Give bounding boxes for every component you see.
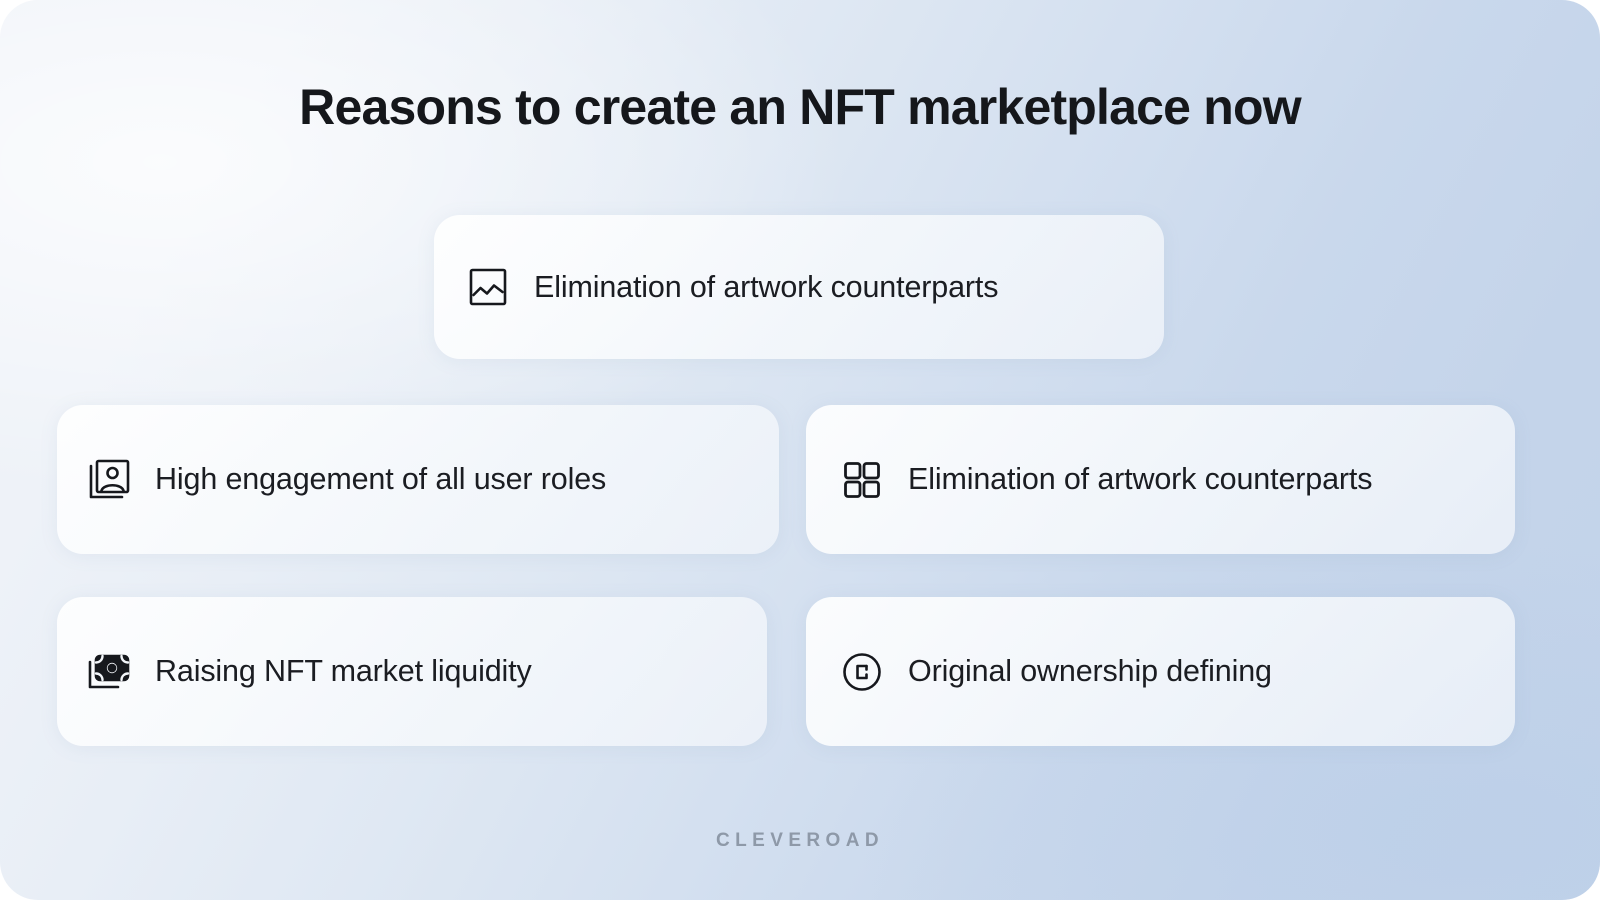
image-chart-icon — [464, 263, 512, 311]
user-portrait-card-icon — [85, 456, 133, 504]
reason-card-label: Original ownership defining — [908, 654, 1272, 689]
reason-card-original-ownership[interactable]: Original ownership defining — [806, 597, 1515, 746]
reason-card-high-engagement[interactable]: High engagement of all user roles — [57, 405, 779, 554]
infographic-canvas: Reasons to create an NFT marketplace now… — [0, 0, 1600, 900]
reason-card-raising-liquidity[interactable]: Raising NFT market liquidity — [57, 597, 767, 746]
brand-logo-text: CLEVEROAD — [0, 830, 1600, 852]
reason-card-elimination-artwork-right[interactable]: Elimination of artwork counterparts — [806, 405, 1515, 554]
reason-card-label: High engagement of all user roles — [155, 462, 606, 497]
reason-card-label: Raising NFT market liquidity — [155, 654, 532, 689]
banknote-icon — [85, 648, 133, 696]
reason-card-label: Elimination of artwork counterparts — [534, 270, 998, 305]
copyright-circle-icon — [838, 648, 886, 696]
reason-card-elimination-artwork-top[interactable]: Elimination of artwork counterparts — [434, 215, 1164, 359]
reason-card-label: Elimination of artwork counterparts — [908, 462, 1372, 497]
grid-four-squares-icon — [838, 456, 886, 504]
page-title: Reasons to create an NFT marketplace now — [0, 78, 1600, 137]
